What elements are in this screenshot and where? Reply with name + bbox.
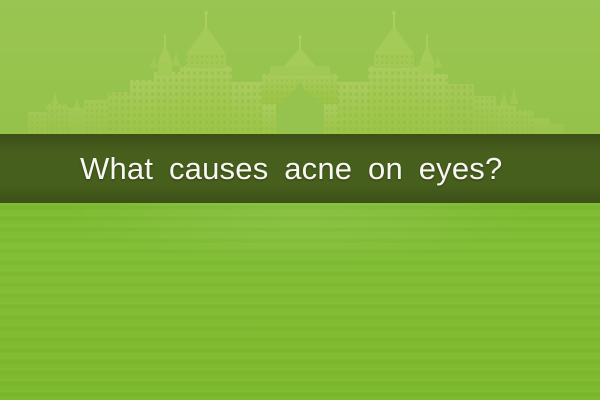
header-image: What causes acne on eyes? [0, 0, 600, 400]
water-background [0, 203, 600, 400]
page-title: What causes acne on eyes? [80, 134, 502, 203]
title-banner: What causes acne on eyes? [0, 134, 600, 203]
sky-background [0, 0, 600, 134]
